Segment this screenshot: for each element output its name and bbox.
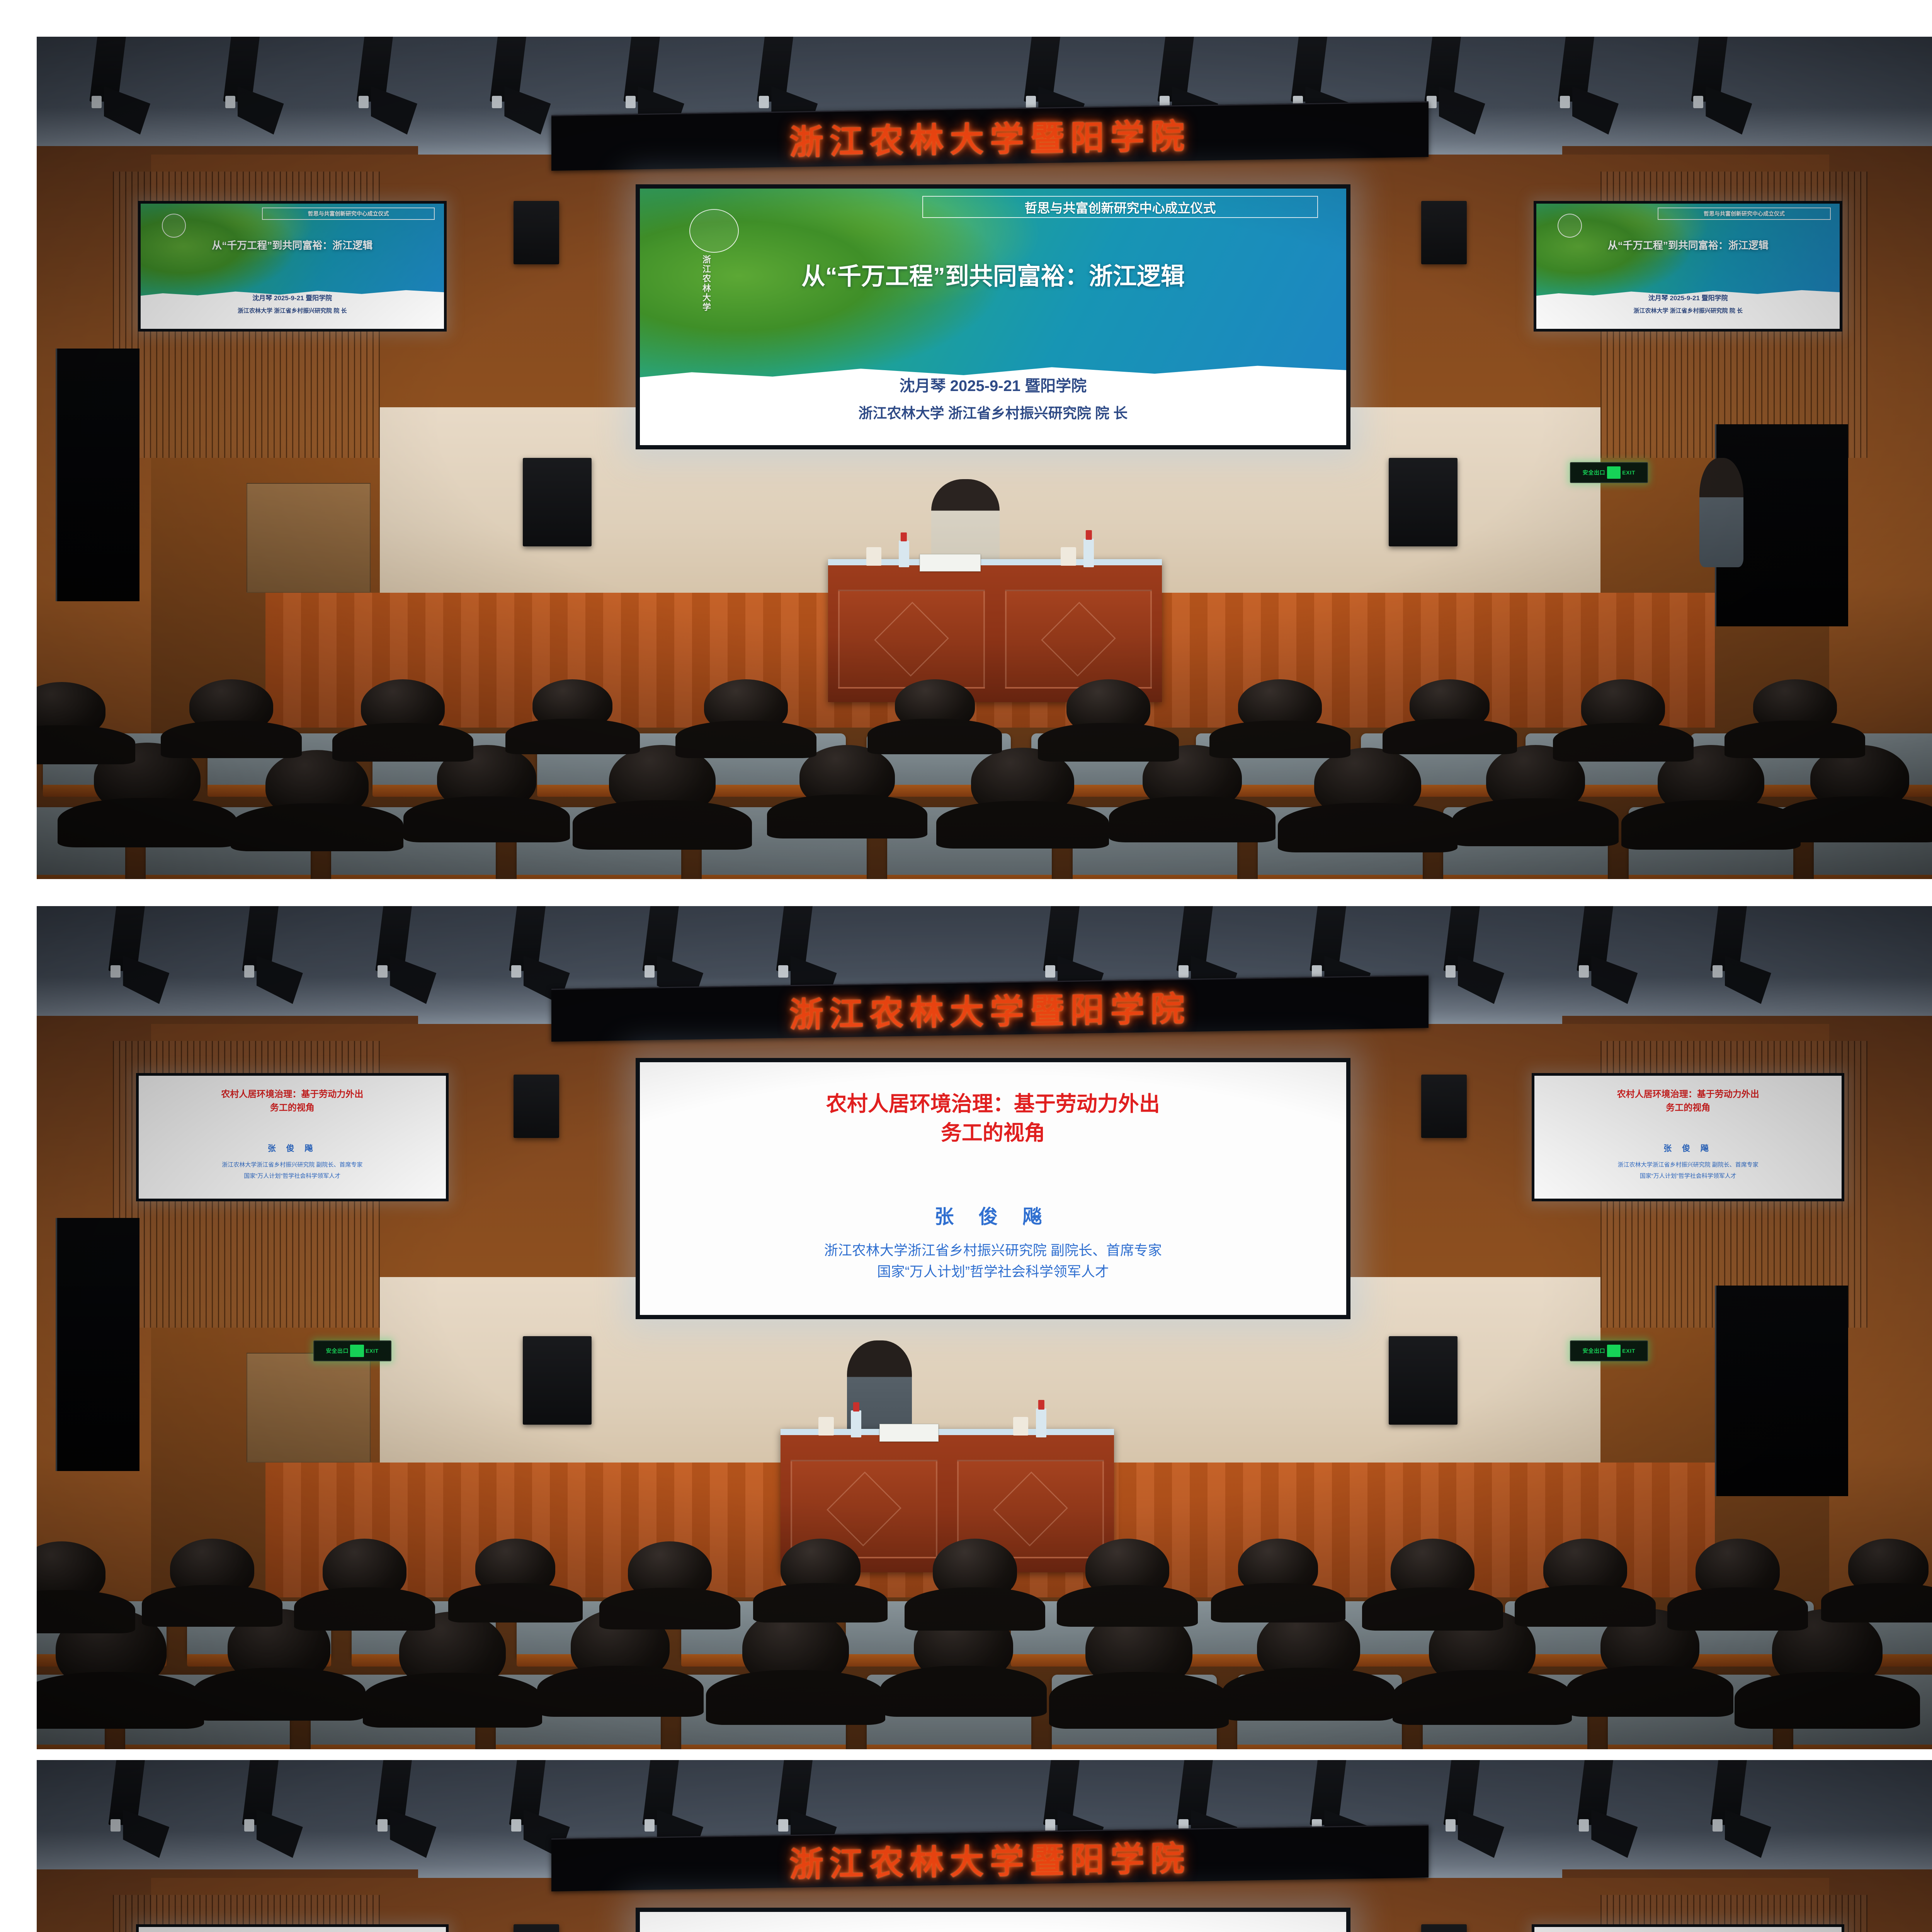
- slide-affiliation-line-2: 国家“万人计划”哲学社会科学领军人才: [661, 1260, 1325, 1283]
- slide-two-mountains-theory-mini-left: “两山”理念的形成发展与浙江实践 赵兴泉 农业农村部乡村振兴专家咨询委委员 20…: [139, 1927, 446, 1932]
- slide-speaker-name: 张 俊 飚: [139, 1142, 446, 1154]
- paper-cup: [866, 547, 881, 566]
- led-banner-text: 浙江农林大学暨阳学院: [789, 109, 1190, 164]
- audience-head: [1753, 679, 1837, 732]
- audience-head: [1848, 1539, 1928, 1595]
- audience-head: [628, 1541, 712, 1601]
- slide-title-line-2: 务工的视角: [1547, 1102, 1830, 1114]
- slide-event-badge-text: 哲思与共富创新研究中心成立仪式: [1025, 198, 1216, 216]
- wall-cabinet-left: [247, 483, 371, 592]
- photo-panel-3: 浙江农林大学暨阳学院 “两山”理念的形成发展与浙江实践 赵兴泉 农业农村部乡村振…: [37, 1760, 1932, 1932]
- pa-speaker-upper-left: [514, 1075, 559, 1138]
- exit-sign-label-cn: 安全出口: [1583, 1347, 1605, 1355]
- standing-attendee: [1699, 458, 1743, 567]
- slide-title-line-2: 务工的视角: [668, 1119, 1318, 1147]
- slide-title-line-1: 农村人居环境治理：基于劳动力外出: [1547, 1088, 1830, 1100]
- audience-head: [1085, 1539, 1169, 1598]
- main-projection-screen: 农村人居环境治理：基于劳动力外出 务工的视角 张 俊 飚 浙江农林大学浙江省乡村…: [636, 1058, 1351, 1319]
- name-plate-panel-2: [879, 1424, 939, 1442]
- exit-sign-label-en: EXIT: [366, 1348, 379, 1354]
- led-banner-text: 浙江农林大学暨阳学院: [789, 1831, 1190, 1886]
- slide-rural-living-environment-mini-right: 农村人居环境治理：基于劳动力外出 务工的视角 张 俊 飚 浙江农林大学浙江省乡村…: [1534, 1076, 1842, 1199]
- main-projection-screen: 浙江农林大学 哲思与共富创新研究中心成立仪式 从“千万工程”到共同富裕：浙江逻辑…: [636, 184, 1351, 450]
- audience-head: [1238, 1539, 1318, 1595]
- slide-two-mountains-theory-mini-right: “两山”理念的形成发展与浙江实践 赵兴泉 农业农村部乡村振兴专家咨询委委员 20…: [1534, 1927, 1842, 1932]
- pa-speaker-upper-right: [1421, 1075, 1467, 1138]
- lecture-hall-room-3: 浙江农林大学暨阳学院 “两山”理念的形成发展与浙江实践 赵兴泉 农业农村部乡村振…: [37, 1760, 1932, 1932]
- exit-sign-label-cn: 安全出口: [1583, 469, 1605, 476]
- side-screen-right: 哲思与共富创新研究中心成立仪式 从“千万工程”到共同富裕：浙江逻辑 沈月琴 20…: [1534, 201, 1842, 332]
- audience-head: [361, 679, 445, 735]
- slide-affiliation: 浙江农林大学 浙江省乡村振兴研究院 院 长: [1536, 306, 1840, 315]
- audience-head: [895, 679, 975, 730]
- university-seal-icon: [689, 209, 739, 253]
- slide-affiliation-line-1: 浙江农林大学浙江省乡村振兴研究院 副院长、首席专家: [148, 1160, 437, 1170]
- slide-affiliation-line-1: 浙江农林大学浙江省乡村振兴研究院 副院长、首席专家: [1544, 1160, 1833, 1170]
- side-screen-left: 哲思与共富创新研究中心成立仪式 从“千万工程”到共同富裕：浙江逻辑 沈月琴 20…: [138, 201, 447, 332]
- slide-event-badge: 哲思与共富创新研究中心成立仪式: [262, 207, 435, 220]
- paper-cup: [818, 1417, 833, 1435]
- audience-head: [1066, 679, 1150, 735]
- exit-sign: 安全出口 EXIT: [1570, 462, 1648, 483]
- pa-speaker-lower-right: [1389, 458, 1458, 546]
- slide-from-qianwan-to-prosperity-mini-left: 哲思与共富创新研究中心成立仪式 从“千万工程”到共同富裕：浙江逻辑 沈月琴 20…: [141, 204, 444, 329]
- side-screen-left: “两山”理念的形成发展与浙江实践 赵兴泉 农业农村部乡村振兴专家咨询委委员 20…: [136, 1924, 449, 1932]
- pa-speaker-lower-left: [523, 1336, 592, 1425]
- exit-sign: 安全出口 EXIT: [313, 1340, 391, 1362]
- slide-affiliation-line-2: 国家“万人计划”哲学社会科学领军人才: [148, 1172, 437, 1181]
- slide-byline: 沈月琴 2025-9-21 暨阳学院: [141, 293, 444, 302]
- audience-head: [189, 679, 273, 732]
- water-bottle: [899, 541, 909, 568]
- water-bottle: [851, 1410, 861, 1437]
- water-bottle: [1083, 539, 1094, 567]
- lecture-hall-room-1: 浙江农林大学暨阳学院 浙江农林大学 哲思与共富创新研究中心成立仪式 从“千万工程…: [37, 37, 1932, 879]
- exit-sign-label-cn: 安全出口: [326, 1347, 349, 1355]
- slide-from-qianwan-to-prosperity-mini-right: 哲思与共富创新研究中心成立仪式 从“千万工程”到共同富裕：浙江逻辑 沈月琴 20…: [1536, 204, 1840, 329]
- audience-head: [704, 679, 788, 732]
- pa-speaker-lower-left: [523, 458, 592, 546]
- name-plate-panel-1: [920, 554, 981, 572]
- side-door-left: [56, 349, 139, 601]
- audience-head: [1410, 679, 1490, 730]
- slide-byline: 沈月琴 2025-9-21 暨阳学院: [1536, 293, 1840, 302]
- photo-panel-1: 浙江农林大学暨阳学院 浙江农林大学 哲思与共富创新研究中心成立仪式 从“千万工程…: [37, 37, 1932, 879]
- slide-title: 从“千万工程”到共同富裕：浙江逻辑: [1536, 238, 1840, 252]
- audience-head: [1391, 1539, 1475, 1601]
- running-man-icon: [1607, 1345, 1621, 1357]
- slide-two-mountains-theory: “两山”理念的形成发展与浙江实践 赵兴泉 农业农村部乡村振兴专家咨询委委员 20…: [640, 1912, 1347, 1932]
- running-man-icon: [350, 1345, 364, 1357]
- side-screen-left: 农村人居环境治理：基于劳动力外出 务工的视角 张 俊 飚 浙江农林大学浙江省乡村…: [136, 1073, 449, 1201]
- audience-head: [933, 1539, 1017, 1601]
- university-seal-icon: [1558, 214, 1582, 238]
- slide-affiliation-line-1: 浙江农林大学浙江省乡村振兴研究院 副院长、首席专家: [661, 1239, 1325, 1262]
- screenshot-root: 浙江农林大学暨阳学院 浙江农林大学 哲思与共富创新研究中心成立仪式 从“千万工程…: [0, 0, 1932, 1932]
- slide-speaker-name: 张 俊 飚: [640, 1201, 1347, 1229]
- slide-event-badge-text: 哲思与共富创新研究中心成立仪式: [308, 210, 389, 218]
- slide-from-qianwan-to-prosperity: 浙江农林大学 哲思与共富创新研究中心成立仪式 从“千万工程”到共同富裕：浙江逻辑…: [640, 189, 1347, 446]
- slide-byline: 沈月琴 2025-9-21 暨阳学院: [640, 373, 1347, 396]
- side-screen-right: 农村人居环境治理：基于劳动力外出 务工的视角 张 俊 飚 浙江农林大学浙江省乡村…: [1532, 1073, 1844, 1201]
- photo-panel-2: 浙江农林大学暨阳学院 农村人居环境治理：基于劳动力外出 务工的视角 张 俊 飚 …: [37, 906, 1932, 1749]
- water-bottle: [1036, 1408, 1046, 1437]
- pa-speaker-upper-left: [514, 1924, 559, 1932]
- slide-title-line-2: 务工的视角: [151, 1102, 434, 1114]
- slide-event-badge: 哲思与共富创新研究中心成立仪式: [1658, 207, 1831, 220]
- exit-sign-label-en: EXIT: [1622, 1348, 1635, 1354]
- audience-head: [170, 1539, 254, 1598]
- paper-cup: [1061, 547, 1076, 566]
- audience-head: [1543, 1539, 1627, 1598]
- paper-cup: [1013, 1417, 1028, 1435]
- led-banner-text: 浙江农林大学暨阳学院: [789, 981, 1190, 1037]
- exit-sign: 安全出口 EXIT: [1570, 1340, 1648, 1362]
- slide-affiliation: 浙江农林大学 浙江省乡村振兴研究院 院 长: [640, 401, 1347, 422]
- slide-rural-living-environment: 农村人居环境治理：基于劳动力外出 务工的视角 张 俊 飚 浙江农林大学浙江省乡村…: [640, 1062, 1347, 1315]
- audience-head: [323, 1539, 406, 1601]
- slide-speaker-name: 张 俊 飚: [1534, 1142, 1842, 1154]
- slide-affiliation-line-2: 国家“万人计划”哲学社会科学领军人才: [1544, 1172, 1833, 1181]
- running-man-icon: [1607, 466, 1621, 478]
- pa-speaker-upper-left: [514, 201, 559, 264]
- side-door-left: [56, 1218, 139, 1471]
- pa-speaker-lower-right: [1389, 1336, 1458, 1425]
- lecture-hall-room-2: 浙江农林大学暨阳学院 农村人居环境治理：基于劳动力外出 务工的视角 张 俊 飚 …: [37, 906, 1932, 1749]
- wall-cabinet-left: [247, 1353, 371, 1463]
- side-door-right: [1715, 1286, 1848, 1497]
- pa-speaker-upper-right: [1421, 1924, 1467, 1932]
- main-projection-screen: “两山”理念的形成发展与浙江实践 赵兴泉 农业农村部乡村振兴专家咨询委委员 20…: [636, 1908, 1351, 1932]
- side-screen-right: “两山”理念的形成发展与浙江实践 赵兴泉 农业农村部乡村振兴专家咨询委委员 20…: [1532, 1924, 1844, 1932]
- pa-speaker-upper-right: [1421, 201, 1467, 264]
- exit-sign-label-en: EXIT: [1622, 469, 1635, 476]
- audience-head: [475, 1539, 555, 1595]
- slide-affiliation: 浙江农林大学 浙江省乡村振兴研究院 院 长: [141, 306, 444, 315]
- slide-title-line-1: 农村人居环境治理：基于劳动力外出: [668, 1090, 1318, 1118]
- slide-rural-living-environment-mini-left: 农村人居环境治理：基于劳动力外出 务工的视角 张 俊 飚 浙江农林大学浙江省乡村…: [139, 1076, 446, 1199]
- slide-title: 从“千万工程”到共同富裕：浙江逻辑: [640, 257, 1347, 291]
- university-seal-icon: [162, 214, 186, 238]
- audience-head: [1581, 679, 1665, 735]
- slide-event-badge: 哲思与共富创新研究中心成立仪式: [922, 196, 1318, 218]
- slide-event-badge-text: 哲思与共富创新研究中心成立仪式: [1704, 210, 1785, 218]
- audience-head: [781, 1539, 861, 1595]
- audience-head: [1238, 679, 1322, 732]
- slide-title-line-1: 农村人居环境治理：基于劳动力外出: [151, 1088, 434, 1100]
- slide-title: 从“千万工程”到共同富裕：浙江逻辑: [141, 238, 444, 252]
- audience-head: [1696, 1539, 1779, 1601]
- audience-area: [37, 1480, 1932, 1749]
- audience-area: [37, 626, 1932, 879]
- audience-head: [1314, 748, 1421, 818]
- audience-head: [532, 679, 612, 730]
